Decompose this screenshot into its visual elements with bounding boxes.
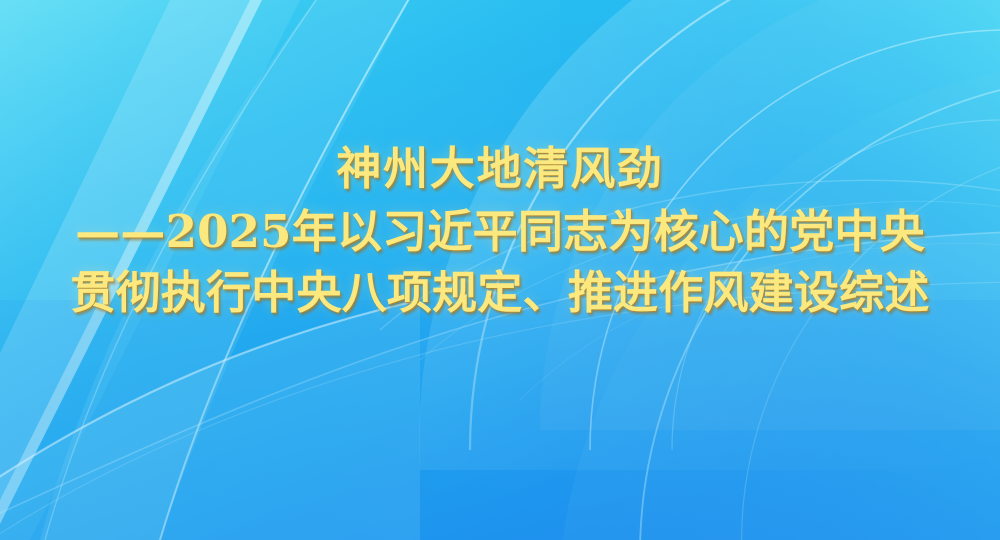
news-banner: 神州大地清风劲 ——2025年以习近平同志为核心的党中央 贯彻执行中央八项规定、…	[0, 0, 1000, 540]
headline-block: 神州大地清风劲 ——2025年以习近平同志为核心的党中央 贯彻执行中央八项规定、…	[0, 146, 1000, 315]
headline-line-1: 神州大地清风劲	[18, 146, 982, 191]
headline-line-3: 贯彻执行中央八项规定、推进作风建设综述	[18, 270, 982, 315]
headline-line-2: ——2025年以习近平同志为核心的党中央	[18, 209, 982, 254]
